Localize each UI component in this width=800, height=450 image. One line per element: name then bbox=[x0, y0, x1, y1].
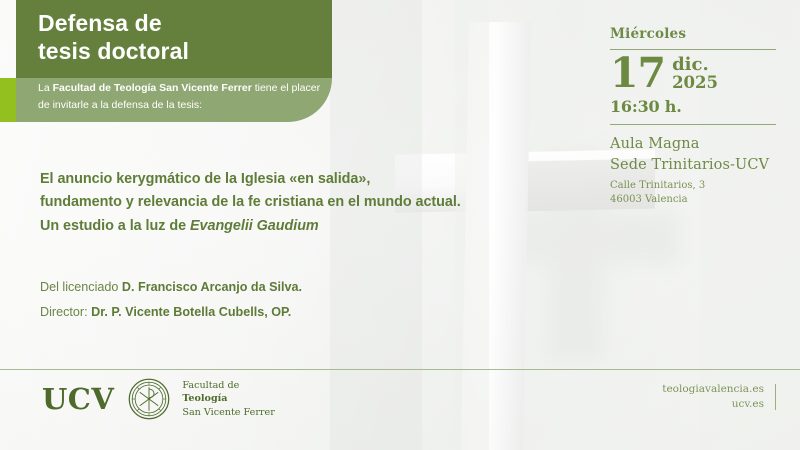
footer-divider bbox=[0, 369, 800, 370]
footer-urls: teologiavalencia.es ucv.es bbox=[662, 382, 776, 412]
invitation-faculty: Facultad de Teología San Vicente Ferrer bbox=[53, 82, 252, 94]
page-title-line1: Defensa de bbox=[38, 10, 328, 38]
candidate-label: Del licenciado bbox=[40, 280, 122, 294]
thesis-title-line3: Un estudio a la luz de Evangelii Gaudium bbox=[40, 215, 600, 238]
footer-branding: UCV Facultad d bbox=[42, 378, 275, 420]
thesis-title-line2: fundamento y relevancia de la fe cristia… bbox=[40, 191, 600, 214]
page-title: Defensa de tesis doctoral bbox=[38, 10, 328, 66]
event-month: dic. bbox=[672, 56, 718, 74]
thesis-title-line3-prefix: Un estudio a la luz de bbox=[40, 218, 190, 234]
faculty-lockup: Facultad de Teología San Vicente Ferrer bbox=[182, 379, 274, 418]
thesis-title-line1: El anuncio kerygmático de la Iglesia «en… bbox=[40, 168, 600, 191]
thesis-title-work: Evangelii Gaudium bbox=[190, 218, 319, 234]
poster-root: Defensa de tesis doctoral La Facultad de… bbox=[0, 0, 800, 450]
event-address-city: 46003 Valencia bbox=[610, 193, 790, 207]
event-time: 16:30 h. bbox=[610, 97, 790, 116]
footer-url-accent-line bbox=[775, 384, 776, 410]
faculty-line1: Facultad de bbox=[182, 379, 274, 392]
event-day-number: 17 bbox=[610, 54, 665, 93]
director-label: Director: bbox=[40, 305, 91, 319]
director-row: Director: Dr. P. Vicente Botella Cubells… bbox=[40, 300, 470, 325]
candidate-row: Del licenciado D. Francisco Arcanjo da S… bbox=[40, 275, 470, 300]
invitation-prefix: La bbox=[38, 82, 53, 94]
people-block: Del licenciado D. Francisco Arcanjo da S… bbox=[40, 275, 470, 326]
event-address: Calle Trinitarios, 3 46003 Valencia bbox=[610, 179, 790, 208]
event-venue-site: Sede Trinitarios-UCV bbox=[610, 155, 790, 176]
faculty-line3: San Vicente Ferrer bbox=[182, 406, 274, 419]
footer-url-teologia[interactable]: teologiavalencia.es bbox=[662, 382, 764, 397]
chi-rho-seal-icon bbox=[128, 378, 170, 420]
page-title-line2: tesis doctoral bbox=[38, 38, 328, 66]
event-date: 17 dic. 2025 bbox=[610, 54, 790, 93]
candidate-name: D. Francisco Arcanjo da Silva. bbox=[122, 280, 302, 294]
event-venue-room: Aula Magna bbox=[610, 134, 790, 155]
ucv-logo-text: UCV bbox=[42, 385, 114, 414]
event-month-year: dic. 2025 bbox=[672, 56, 718, 92]
director-name: Dr. P. Vicente Botella Cubells, OP. bbox=[91, 305, 291, 319]
event-year: 2025 bbox=[672, 74, 718, 92]
rail-divider-bottom bbox=[610, 124, 776, 125]
invitation-text: La Facultad de Teología San Vicente Ferr… bbox=[38, 80, 328, 113]
header-accent-lime bbox=[0, 78, 16, 122]
event-details-rail: Miércoles 17 dic. 2025 16:30 h. Aula Mag… bbox=[610, 26, 790, 208]
event-day-of-week: Miércoles bbox=[610, 26, 790, 42]
thesis-title: El anuncio kerygmático de la Iglesia «en… bbox=[40, 168, 600, 238]
faculty-line2: Teología bbox=[182, 393, 227, 404]
event-address-street: Calle Trinitarios, 3 bbox=[610, 179, 790, 193]
footer-url-ucv[interactable]: ucv.es bbox=[662, 397, 764, 412]
